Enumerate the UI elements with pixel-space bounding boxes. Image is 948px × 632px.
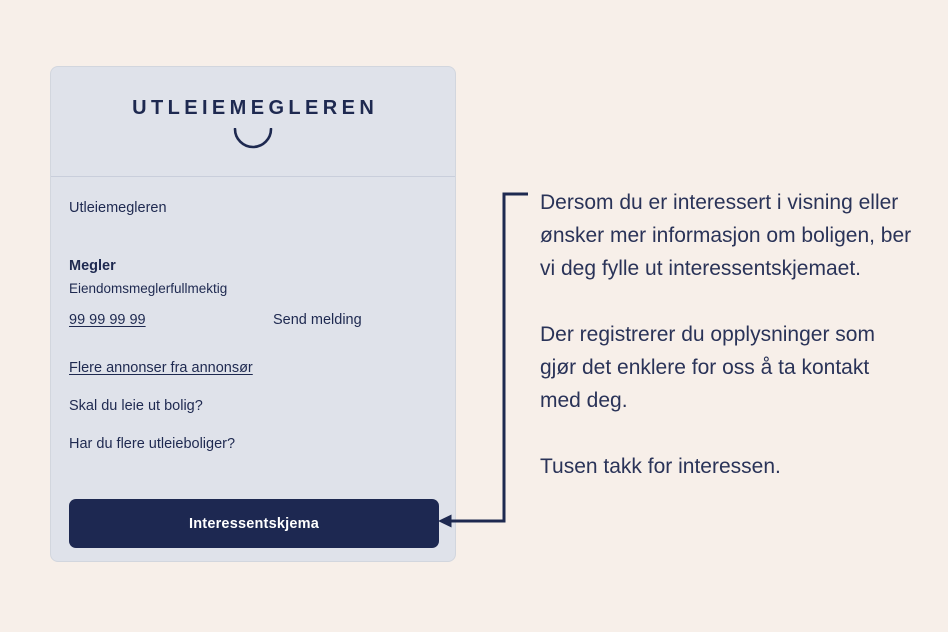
more-ads-from-advertiser-link[interactable]: Flere annonser fra annonsør <box>69 360 437 376</box>
agent-role-subtitle: Eiendomsmeglerfullmektig <box>69 280 437 298</box>
rent-out-property-link[interactable]: Skal du leie ut bolig? <box>69 398 437 414</box>
company-name: Utleiemegleren <box>69 199 437 218</box>
brand-wordmark: UTLEIEMEGLEREN <box>128 98 378 118</box>
annotation-text-block: Dersom du er interessert i visning eller… <box>540 186 912 483</box>
agent-contact-card: UTLEIEMEGLEREN Utleiemegleren Megler Eie… <box>50 66 456 562</box>
smile-arc-icon <box>232 128 274 150</box>
multiple-rentals-link[interactable]: Har du flere utleieboliger? <box>69 436 437 452</box>
screenshot-canvas: UTLEIEMEGLEREN Utleiemegleren Megler Eie… <box>0 0 948 632</box>
interest-form-button[interactable]: Interessentskjema <box>69 499 439 548</box>
annotation-paragraph-2: Der registrerer du opplysninger som gjør… <box>540 318 912 417</box>
card-body: Utleiemegleren Megler Eiendomsmeglerfull… <box>51 177 455 452</box>
agent-role-title: Megler <box>69 257 437 277</box>
send-message-link[interactable]: Send melding <box>273 312 362 328</box>
agent-info-block: Megler Eiendomsmeglerfullmektig 99 99 99… <box>69 257 437 328</box>
annotation-paragraph-3: Tusen takk for interessen. <box>540 450 912 483</box>
annotation-paragraph-1: Dersom du er interessert i visning eller… <box>540 186 912 285</box>
card-header: UTLEIEMEGLEREN <box>51 67 455 177</box>
phone-link[interactable]: 99 99 99 99 <box>69 312 273 328</box>
contact-row: 99 99 99 99 Send melding <box>69 312 437 328</box>
